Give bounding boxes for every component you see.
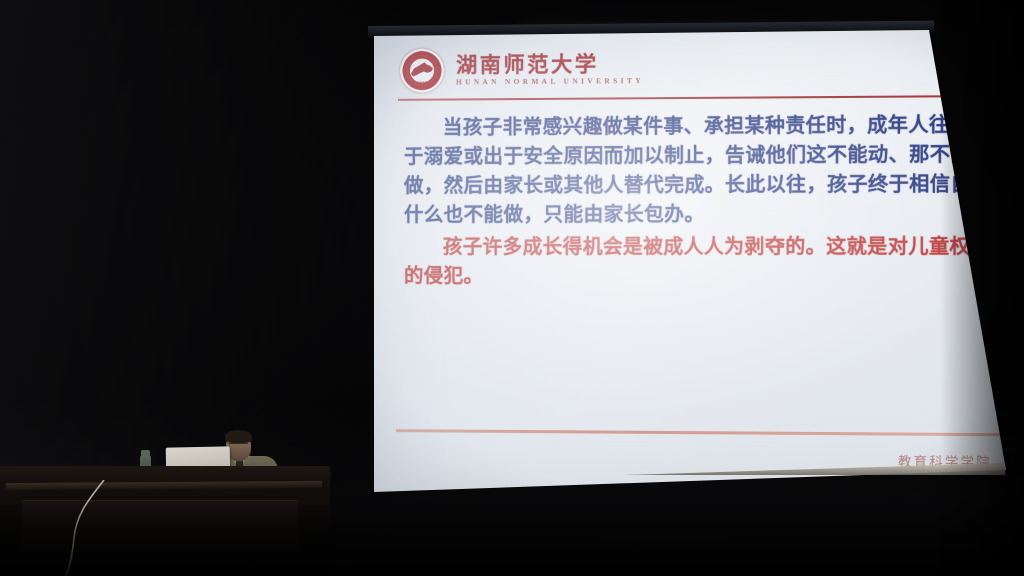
slide-paragraph-primary: 当孩子非常感兴趣做某件事、承担某种责任时，成年人往往由于溺爱或出于安全原因而加以… [404, 109, 994, 229]
university-name-chinese: 湖南师范大学 [456, 53, 644, 77]
slide-paragraph-emphasis: 孩子许多成长得机会是被成人人为剥夺的。这就是对儿童权利的侵犯。 [404, 231, 994, 290]
water-bottle-cap [141, 450, 150, 456]
presentation-slide: 1938 湖南师范大学 HUNAN NORMAL UNIVERSITY 当孩子非… [374, 25, 1021, 498]
seal-year-label: 1938 [400, 79, 444, 84]
screenshot-root: 1938 湖南师范大学 HUNAN NORMAL UNIVERSITY 当孩子非… [0, 0, 1024, 576]
podium-front-panel [22, 500, 298, 554]
university-seal-icon: 1938 [400, 48, 444, 92]
footer-divider-rule [396, 429, 1007, 436]
university-name-group: 湖南师范大学 HUNAN NORMAL UNIVERSITY [456, 53, 644, 86]
slide-body: 当孩子非常感兴趣做某件事、承担某种责任时，成年人往往由于溺爱或出于安全原因而加以… [404, 109, 994, 290]
header-divider-rule [398, 95, 1000, 101]
slide-header: 1938 湖南师范大学 HUNAN NORMAL UNIVERSITY [400, 47, 644, 93]
university-name-english: HUNAN NORMAL UNIVERSITY [456, 77, 644, 86]
speaker-glasses-icon [229, 443, 248, 448]
speaker-hair [225, 430, 252, 443]
